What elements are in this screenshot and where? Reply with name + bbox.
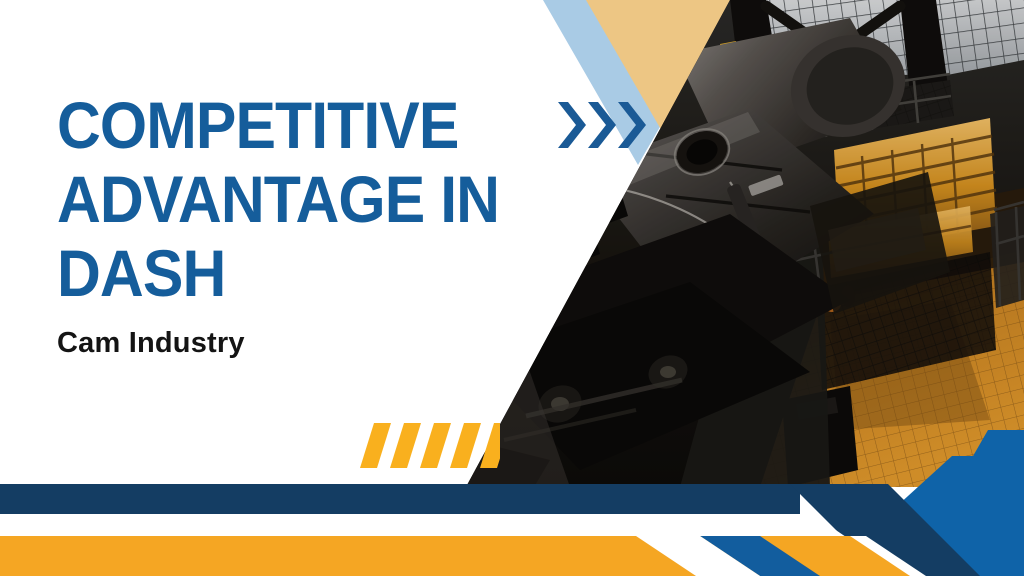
title-line-2: ADVANTAGE IN bbox=[57, 162, 535, 236]
bottom-stripe-decor bbox=[0, 456, 1024, 576]
chevron-right-icon bbox=[618, 102, 646, 148]
presentation-slide: COMPETITIVE ADVANTAGE IN DASH Cam Indust… bbox=[0, 0, 1024, 576]
title-line-1: COMPETITIVE bbox=[57, 88, 535, 162]
page-title: COMPETITIVE ADVANTAGE IN DASH bbox=[57, 88, 577, 310]
chevron-right-icon bbox=[588, 102, 616, 148]
title-line-3: DASH bbox=[57, 236, 535, 310]
subtitle: Cam Industry bbox=[57, 327, 245, 360]
